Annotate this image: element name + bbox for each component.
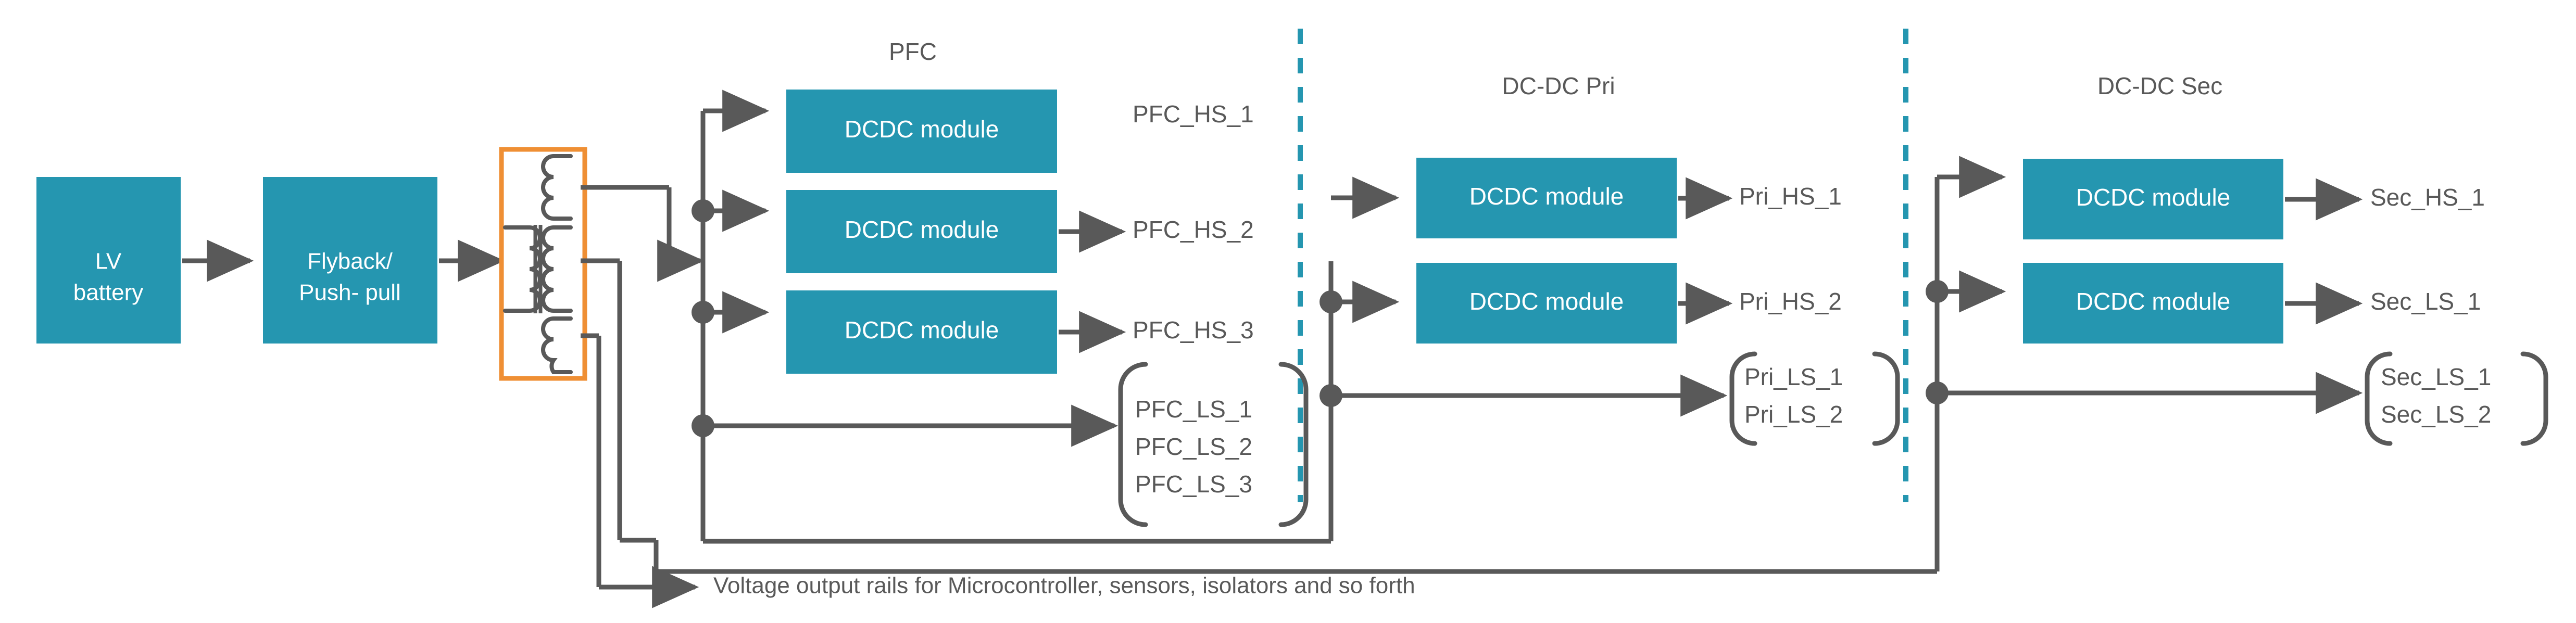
brace-right-sec-ls: [2523, 354, 2546, 443]
diagram-canvas: PFC DC-DC Pri DC-DC Sec LV battery Flyba…: [0, 0, 2576, 623]
junction-dot-sec-2: [1926, 280, 1949, 303]
block-flyback-label-line1: Flyback/: [307, 249, 393, 274]
rail-label-pfc-hs-1: PFC_HS_1: [1133, 100, 1254, 128]
section-title-dcdc-pri: DC-DC Pri: [1502, 72, 1615, 99]
section-title-pfc: PFC: [889, 38, 937, 65]
block-pfc-module-1-label: DCDC module: [845, 116, 999, 143]
group-sec-low-side: Sec_LS_1 Sec_LS_2: [2367, 354, 2546, 443]
junction-dot-pri-2: [1320, 290, 1342, 313]
junction-dot-pfc-2: [692, 199, 714, 222]
transformer-symbol: [501, 149, 585, 378]
annotation-aux-rail-note: Voltage output rails for Microcontroller…: [713, 573, 1415, 599]
rail-label-sec-ls-2-grouped: Sec_LS_2: [2381, 401, 2491, 428]
block-lv-battery-label-line1: LV: [95, 249, 122, 274]
brace-right-pri-ls: [1875, 354, 1898, 443]
rail-label-pri-hs-1: Pri_HS_1: [1739, 183, 1842, 210]
rail-label-sec-ls-1: Sec_LS_1: [2370, 288, 2481, 315]
rail-label-pfc-ls-3: PFC_LS_3: [1135, 471, 1252, 498]
block-sec-module-1-label: DCDC module: [2076, 184, 2231, 211]
block-pfc-module-2-label: DCDC module: [845, 216, 999, 243]
junction-dot-pfc-ls: [692, 414, 714, 437]
rail-label-pri-hs-2: Pri_HS_2: [1739, 288, 1842, 315]
block-flyback-label-line2: Push- pull: [299, 280, 401, 306]
rail-label-pfc-ls-2: PFC_LS_2: [1135, 433, 1252, 460]
block-pfc-module-3-label: DCDC module: [845, 316, 999, 344]
block-diagram-svg: PFC DC-DC Pri DC-DC Sec LV battery Flyba…: [0, 0, 2576, 623]
block-pri-module-1-label: DCDC module: [1469, 183, 1624, 210]
section-title-dcdc-sec: DC-DC Sec: [2097, 72, 2222, 99]
rail-label-pfc-hs-3: PFC_HS_3: [1133, 316, 1254, 344]
block-lv-battery-label-line2: battery: [73, 280, 144, 306]
block-pri-module-2-label: DCDC module: [1469, 288, 1624, 315]
group-pri-low-side: Pri_LS_1 Pri_LS_2: [1732, 354, 1898, 443]
rail-label-pfc-hs-2: PFC_HS_2: [1133, 216, 1254, 243]
rail-label-pfc-ls-1: PFC_LS_1: [1135, 396, 1252, 423]
junction-dot-sec-ls: [1926, 382, 1949, 404]
group-pfc-low-side: PFC_LS_1 PFC_LS_2 PFC_LS_3: [1121, 364, 1306, 525]
junction-dot-pfc-3: [692, 301, 714, 324]
junction-dot-pri-ls: [1320, 384, 1342, 407]
block-sec-module-2-label: DCDC module: [2076, 288, 2231, 315]
rail-label-pri-ls-2: Pri_LS_2: [1744, 401, 1843, 428]
rail-label-pri-ls-1: Pri_LS_1: [1744, 363, 1843, 390]
rail-label-sec-hs-1: Sec_HS_1: [2370, 184, 2485, 211]
rail-label-sec-ls-1-grouped: Sec_LS_1: [2381, 363, 2491, 390]
